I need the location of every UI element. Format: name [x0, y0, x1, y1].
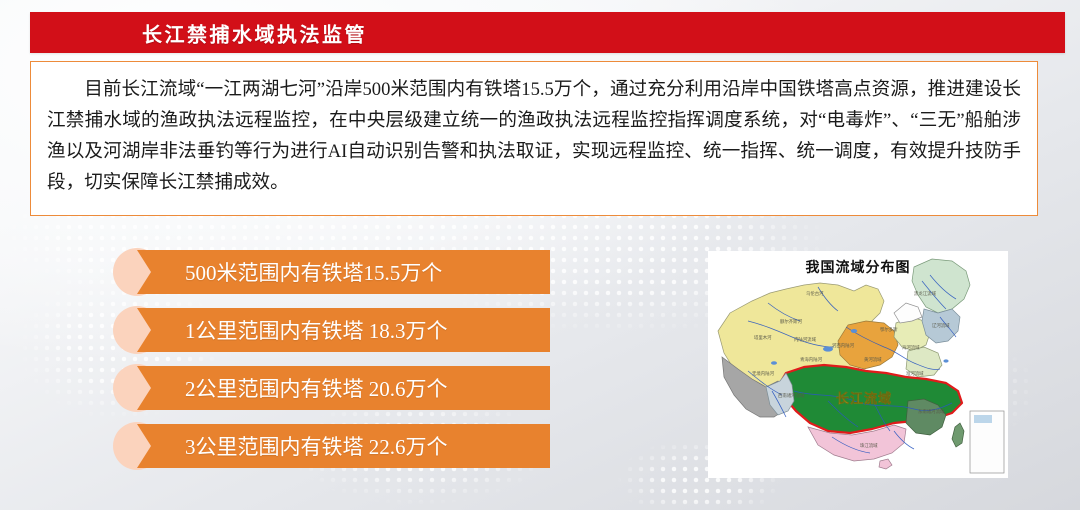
lake — [771, 361, 777, 365]
map-label: 黑龙江流域 — [914, 290, 937, 297]
map-label: 内陆河流域 — [794, 336, 817, 343]
yangtze-basin-label: 长江流域 — [836, 391, 892, 406]
list-item[interactable]: 1公里范围内有铁塔 18.3万个 — [113, 306, 553, 354]
map-label: 西南诸河流域 — [778, 392, 805, 399]
lake — [943, 359, 948, 362]
bullet-bar[interactable]: 500米范围内有铁塔15.5万个 — [137, 250, 550, 294]
map-label: 珠江流域 — [860, 442, 878, 449]
map-label: 额尔齐斯河 — [780, 318, 803, 325]
list-item[interactable]: 2公里范围内有铁塔 20.6万个 — [113, 364, 553, 412]
tower-count-list: 500米范围内有铁塔15.5万个 1公里范围内有铁塔 18.3万个 2公里范围内… — [113, 248, 553, 480]
map-label: 塔里木河 — [754, 334, 772, 341]
list-item-label: 3公里范围内有铁塔 22.6万个 — [185, 431, 448, 461]
map-title: 我国流域分布图 — [708, 257, 1008, 277]
description-panel: 目前长江流域“一江两湖七河”沿岸500米范围内有铁塔15.5万个，通过充分利用沿… — [30, 61, 1038, 216]
list-item-label: 500米范围内有铁塔15.5万个 — [185, 257, 442, 287]
title-banner: 长江禁捕水域执法监管 — [30, 12, 1065, 53]
river-basin-map: 我国流域分布图 — [708, 251, 1008, 478]
bullet-bar[interactable]: 2公里范围内有铁塔 20.6万个 — [137, 366, 550, 410]
map-graphic: 额尔齐斯河 乌伦古河 塔里木河 内陆河流域 河西内陆河 青海内陆河 无境内陆河 … — [708, 251, 1008, 478]
slide-root: 长江禁捕水域执法监管 目前长江流域“一江两湖七河”沿岸500米范围内有铁塔15.… — [0, 0, 1080, 510]
map-label: 河西内陆河 — [832, 342, 855, 349]
list-item-label: 2公里范围内有铁塔 20.6万个 — [185, 373, 448, 403]
list-item[interactable]: 3公里范围内有铁塔 22.6万个 — [113, 422, 553, 470]
list-item[interactable]: 500米范围内有铁塔15.5万个 — [113, 248, 553, 296]
map-label: 无境内陆河 — [752, 370, 775, 377]
list-item-label: 1公里范围内有铁塔 18.3万个 — [185, 315, 448, 345]
map-label: 鄂尔多斯 — [880, 326, 898, 333]
bullet-bar[interactable]: 3公里范围内有铁塔 22.6万个 — [137, 424, 550, 468]
bullet-bar[interactable]: 1公里范围内有铁塔 18.3万个 — [137, 308, 550, 352]
map-label: 淮河流域 — [906, 370, 924, 377]
map-label: 辽河流域 — [932, 322, 950, 329]
lake — [851, 329, 857, 333]
description-text: 目前长江流域“一江两湖七河”沿岸500米范围内有铁塔15.5万个，通过充分利用沿… — [47, 74, 1021, 198]
map-label: 乌伦古河 — [806, 290, 824, 297]
map-label: 海河流域 — [902, 344, 920, 351]
map-label: 青海内陆河 — [800, 356, 823, 363]
page-title: 长江禁捕水域执法监管 — [142, 18, 367, 47]
map-label: 东南诸河流域 — [918, 408, 945, 415]
map-label: 黄河流域 — [864, 356, 882, 363]
